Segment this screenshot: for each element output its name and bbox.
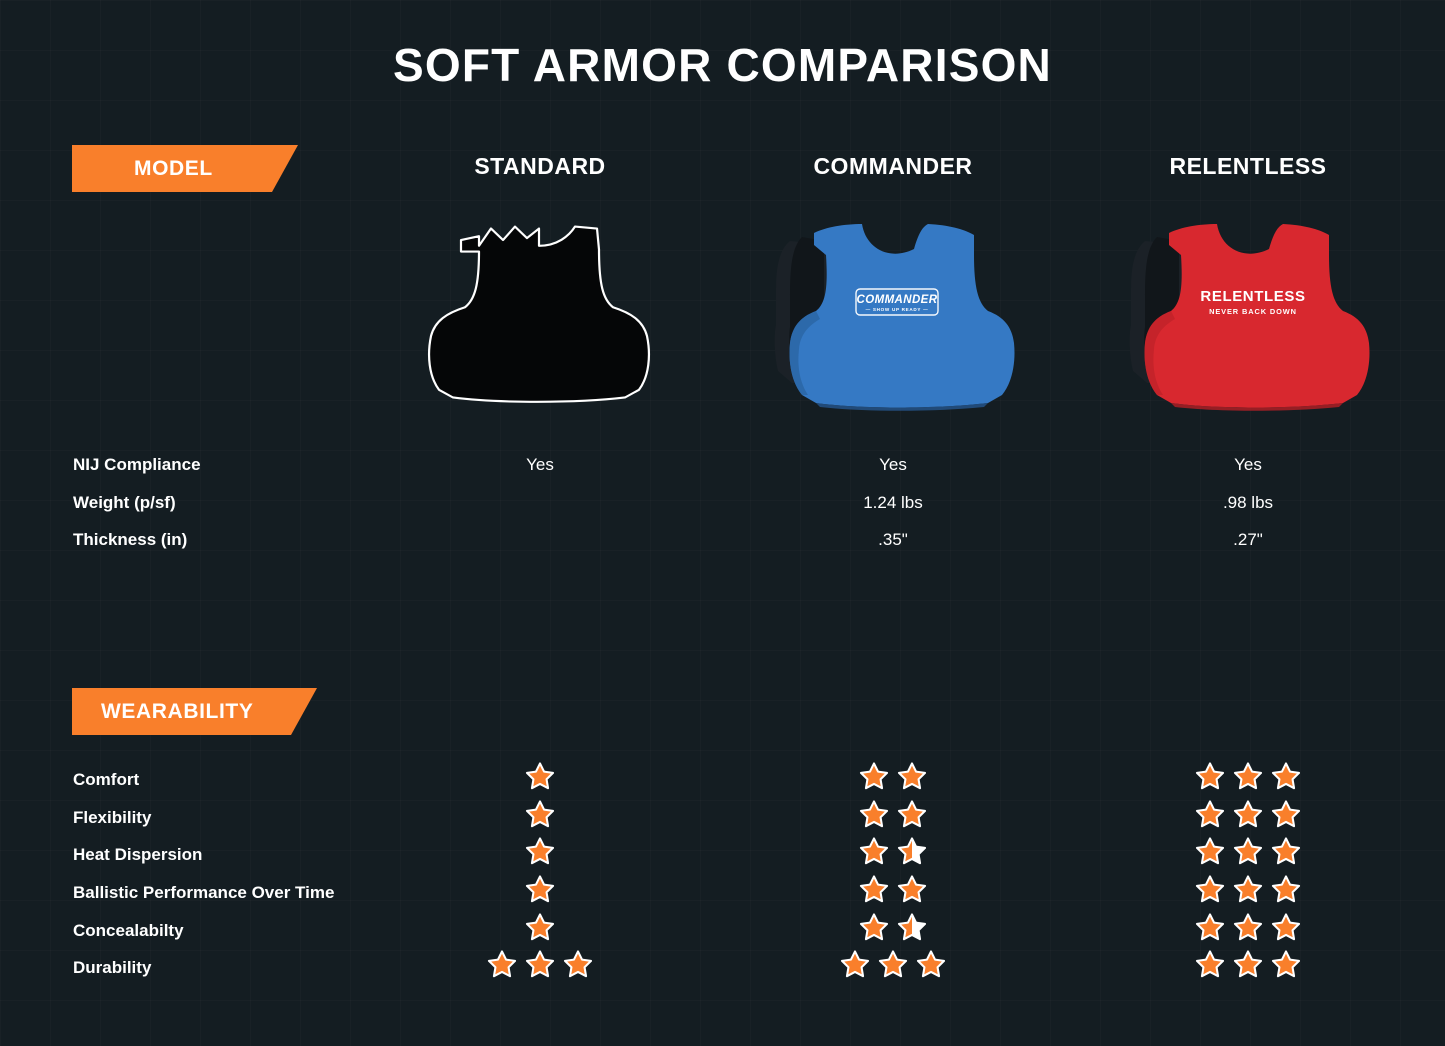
wearability-stars-comfort-commander [752, 760, 1034, 792]
wearability-stars-ballistic-commander [752, 873, 1034, 905]
star-full-icon [1271, 874, 1301, 904]
star-full-icon [1195, 799, 1225, 829]
spec-value-nij-compliance-standard: Yes [400, 455, 680, 475]
spec-value-weight-relentless: .98 lbs [1107, 493, 1389, 513]
wearability-label-concealabilty: Concealabilty [73, 921, 184, 941]
star-full-icon [840, 949, 870, 979]
relentless-logo-secondary: NEVER BACK DOWN [1209, 307, 1297, 316]
star-full-icon [1271, 761, 1301, 791]
spec-value-nij-compliance-commander: Yes [752, 455, 1034, 475]
spec-label-weight: Weight (p/sf) [73, 493, 176, 513]
spec-value-thickness-relentless: .27" [1107, 530, 1389, 550]
wearability-stars-ballistic-relentless [1107, 873, 1389, 905]
star-full-icon [1195, 912, 1225, 942]
star-full-icon [859, 836, 889, 866]
wearability-stars-durability-commander [752, 948, 1034, 980]
star-full-icon [1233, 874, 1263, 904]
section-badge-model-label: MODEL [72, 157, 213, 181]
spec-value-thickness-commander: .35" [752, 530, 1034, 550]
section-badge-model: MODEL [72, 145, 298, 192]
wearability-stars-flexibility-relentless [1107, 798, 1389, 830]
star-full-icon [897, 761, 927, 791]
commander-vest-graphic: COMMANDER — SHOW UP READY — [768, 215, 1018, 415]
wearability-stars-ballistic-standard [400, 873, 680, 905]
wearability-label-heat-dispersion: Heat Dispersion [73, 845, 202, 865]
star-full-icon [1195, 949, 1225, 979]
star-full-icon [525, 761, 555, 791]
star-full-icon [1195, 761, 1225, 791]
star-full-icon [916, 949, 946, 979]
vest-image-standard [400, 215, 680, 430]
star-full-icon [1195, 836, 1225, 866]
spec-value-weight-commander: 1.24 lbs [752, 493, 1034, 513]
star-full-icon [1233, 836, 1263, 866]
star-full-icon [525, 799, 555, 829]
star-full-icon [1271, 949, 1301, 979]
star-full-icon [859, 761, 889, 791]
star-full-icon [487, 949, 517, 979]
star-full-icon [525, 836, 555, 866]
wearability-label-flexibility: Flexibility [73, 808, 151, 828]
star-full-icon [878, 949, 908, 979]
star-full-icon [525, 874, 555, 904]
star-half-icon [897, 912, 927, 942]
star-full-icon [1271, 912, 1301, 942]
star-full-icon [1195, 874, 1225, 904]
wearability-stars-comfort-relentless [1107, 760, 1389, 792]
wearability-stars-concealabilty-commander [752, 911, 1034, 943]
column-header-standard: STANDARD [400, 153, 680, 180]
star-full-icon [1233, 912, 1263, 942]
section-badge-wearability-label: WEARABILITY [72, 700, 253, 724]
commander-logo-primary: COMMANDER [857, 294, 938, 306]
wearability-label-durability: Durability [73, 958, 151, 978]
star-full-icon [897, 799, 927, 829]
wearability-stars-durability-relentless [1107, 948, 1389, 980]
wearability-stars-durability-standard [400, 948, 680, 980]
spec-label-nij-compliance: NIJ Compliance [73, 455, 201, 475]
star-full-icon [1233, 761, 1263, 791]
relentless-logo-primary: RELENTLESS [1200, 288, 1305, 305]
commander-logo-secondary: — SHOW UP READY — [866, 307, 929, 312]
star-full-icon [859, 799, 889, 829]
wearability-stars-heat-dispersion-relentless [1107, 835, 1389, 867]
wearability-stars-flexibility-standard [400, 798, 680, 830]
wearability-stars-comfort-standard [400, 760, 680, 792]
star-full-icon [1233, 799, 1263, 829]
star-half-icon [897, 836, 927, 866]
wearability-stars-flexibility-commander [752, 798, 1034, 830]
spec-value-nij-compliance-relentless: Yes [1107, 455, 1389, 475]
section-badge-wearability: WEARABILITY [72, 688, 317, 735]
relentless-vest-graphic: RELENTLESS NEVER BACK DOWN [1123, 215, 1373, 415]
star-full-icon [525, 949, 555, 979]
wearability-stars-heat-dispersion-commander [752, 835, 1034, 867]
spec-label-thickness: Thickness (in) [73, 530, 187, 550]
star-full-icon [525, 912, 555, 942]
star-full-icon [859, 874, 889, 904]
wearability-stars-concealabilty-relentless [1107, 911, 1389, 943]
star-full-icon [859, 912, 889, 942]
column-header-relentless: RELENTLESS [1107, 153, 1389, 180]
star-full-icon [1233, 949, 1263, 979]
star-full-icon [1271, 836, 1301, 866]
page-title: SOFT ARMOR COMPARISON [0, 38, 1445, 92]
soft-armor-comparison-page: SOFT ARMOR COMPARISON MODEL STANDARD COM… [0, 0, 1445, 1046]
vest-image-relentless: RELENTLESS NEVER BACK DOWN [1107, 215, 1389, 430]
star-full-icon [1271, 799, 1301, 829]
star-full-icon [897, 874, 927, 904]
star-full-icon [563, 949, 593, 979]
standard-vest-graphic [415, 215, 665, 415]
vest-image-commander: COMMANDER — SHOW UP READY — [752, 215, 1034, 430]
wearability-label-comfort: Comfort [73, 770, 139, 790]
wearability-stars-heat-dispersion-standard [400, 835, 680, 867]
wearability-label-ballistic-performance-over-time: Ballistic Performance Over Time [73, 883, 334, 903]
column-header-commander: COMMANDER [752, 153, 1034, 180]
wearability-stars-concealabilty-standard [400, 911, 680, 943]
